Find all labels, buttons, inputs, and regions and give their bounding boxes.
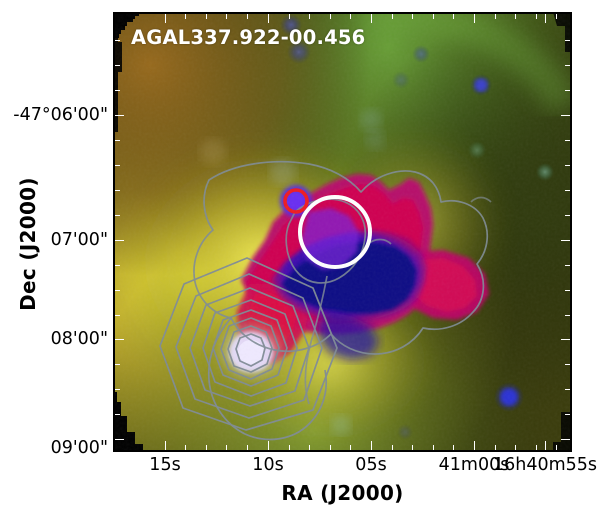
x-axis-title: RA (J2000) xyxy=(113,481,572,505)
x-tick-label: 05s xyxy=(355,455,386,475)
y-tick-right xyxy=(565,389,572,390)
figure-panel: AGAL337.922-00.456 15s 10s 05s 41m00s 16… xyxy=(0,0,607,512)
x-tick-top xyxy=(474,12,475,23)
y-tick-right xyxy=(565,414,572,415)
y-tick-minor xyxy=(113,265,120,266)
x-tick-top xyxy=(536,12,537,19)
x-tick-top xyxy=(556,12,557,19)
sky-image-plot[interactable]: AGAL337.922-00.456 xyxy=(113,12,572,452)
x-tick-minor xyxy=(536,445,537,452)
x-tick-minor xyxy=(289,445,290,452)
y-tick-right xyxy=(565,290,572,291)
y-tick-minor xyxy=(113,364,120,365)
x-tick-label: 15s xyxy=(149,455,180,475)
y-tick-minor xyxy=(113,90,120,91)
y-tick-minor xyxy=(113,215,120,216)
y-tick-major xyxy=(113,339,124,340)
y-tick-right xyxy=(565,65,572,66)
x-tick-minor xyxy=(453,445,454,452)
y-tick-right xyxy=(565,190,572,191)
x-tick-top xyxy=(453,12,454,19)
y-tick-minor xyxy=(113,140,120,141)
y-tick-right xyxy=(565,364,572,365)
y-tick-right xyxy=(565,140,572,141)
x-tick-minor xyxy=(556,445,557,452)
x-tick-minor xyxy=(185,445,186,452)
x-tick-minor xyxy=(247,445,248,452)
x-tick-top xyxy=(185,12,186,19)
x-tick-top xyxy=(289,12,290,19)
x-tick-minor xyxy=(495,445,496,452)
y-tick-right xyxy=(565,165,572,166)
y-tick-major xyxy=(113,240,124,241)
y-tick-right xyxy=(561,240,572,241)
y-tick-major xyxy=(113,115,124,116)
x-tick-minor xyxy=(515,445,516,452)
x-tick-minor xyxy=(226,445,227,452)
x-tick-major xyxy=(268,441,269,452)
x-tick-major xyxy=(371,441,372,452)
y-tick-right xyxy=(565,265,572,266)
x-tick-top xyxy=(226,12,227,19)
y-tick-minor xyxy=(113,40,120,41)
x-tick-top xyxy=(309,12,310,19)
y-tick-minor xyxy=(113,290,120,291)
x-tick-top xyxy=(495,12,496,19)
y-tick-right xyxy=(565,315,572,316)
x-tick-minor xyxy=(350,445,351,452)
y-tick-right xyxy=(565,40,572,41)
y-tick-label: -47°06'00" xyxy=(0,105,108,125)
x-tick-minor xyxy=(412,445,413,452)
x-tick-minor xyxy=(206,445,207,452)
x-tick-minor xyxy=(309,445,310,452)
y-tick-right xyxy=(561,115,572,116)
y-tick-major xyxy=(113,439,124,440)
x-tick-top xyxy=(515,12,516,19)
y-tick-right xyxy=(561,439,572,440)
y-tick-minor xyxy=(113,165,120,166)
source-title: AGAL337.922-00.456 xyxy=(131,26,365,49)
x-tick-label: 16h40m55s xyxy=(493,455,597,475)
x-tick-top xyxy=(371,12,372,23)
x-tick-minor xyxy=(392,445,393,452)
y-tick-minor xyxy=(113,389,120,390)
x-tick-major xyxy=(545,441,546,452)
x-tick-top xyxy=(392,12,393,19)
x-tick-top xyxy=(433,12,434,19)
y-tick-right xyxy=(565,215,572,216)
x-tick-label: 10s xyxy=(252,455,283,475)
x-tick-major xyxy=(474,441,475,452)
x-tick-top xyxy=(545,12,546,23)
x-tick-minor xyxy=(330,445,331,452)
y-tick-minor xyxy=(113,190,120,191)
y-axis-title: Dec (J2000) xyxy=(16,124,40,364)
x-tick-top xyxy=(350,12,351,19)
y-tick-right xyxy=(561,339,572,340)
x-tick-major xyxy=(165,441,166,452)
y-tick-minor xyxy=(113,315,120,316)
x-tick-top xyxy=(206,12,207,19)
x-tick-minor xyxy=(433,445,434,452)
y-tick-minor xyxy=(113,414,120,415)
x-tick-top xyxy=(268,12,269,23)
y-tick-label: 09'00" xyxy=(0,438,108,458)
y-tick-right xyxy=(565,90,572,91)
x-tick-top xyxy=(412,12,413,19)
sky-image xyxy=(113,12,572,452)
y-tick-minor xyxy=(113,65,120,66)
x-tick-top xyxy=(247,12,248,19)
x-tick-top xyxy=(165,12,166,23)
x-tick-top xyxy=(330,12,331,19)
